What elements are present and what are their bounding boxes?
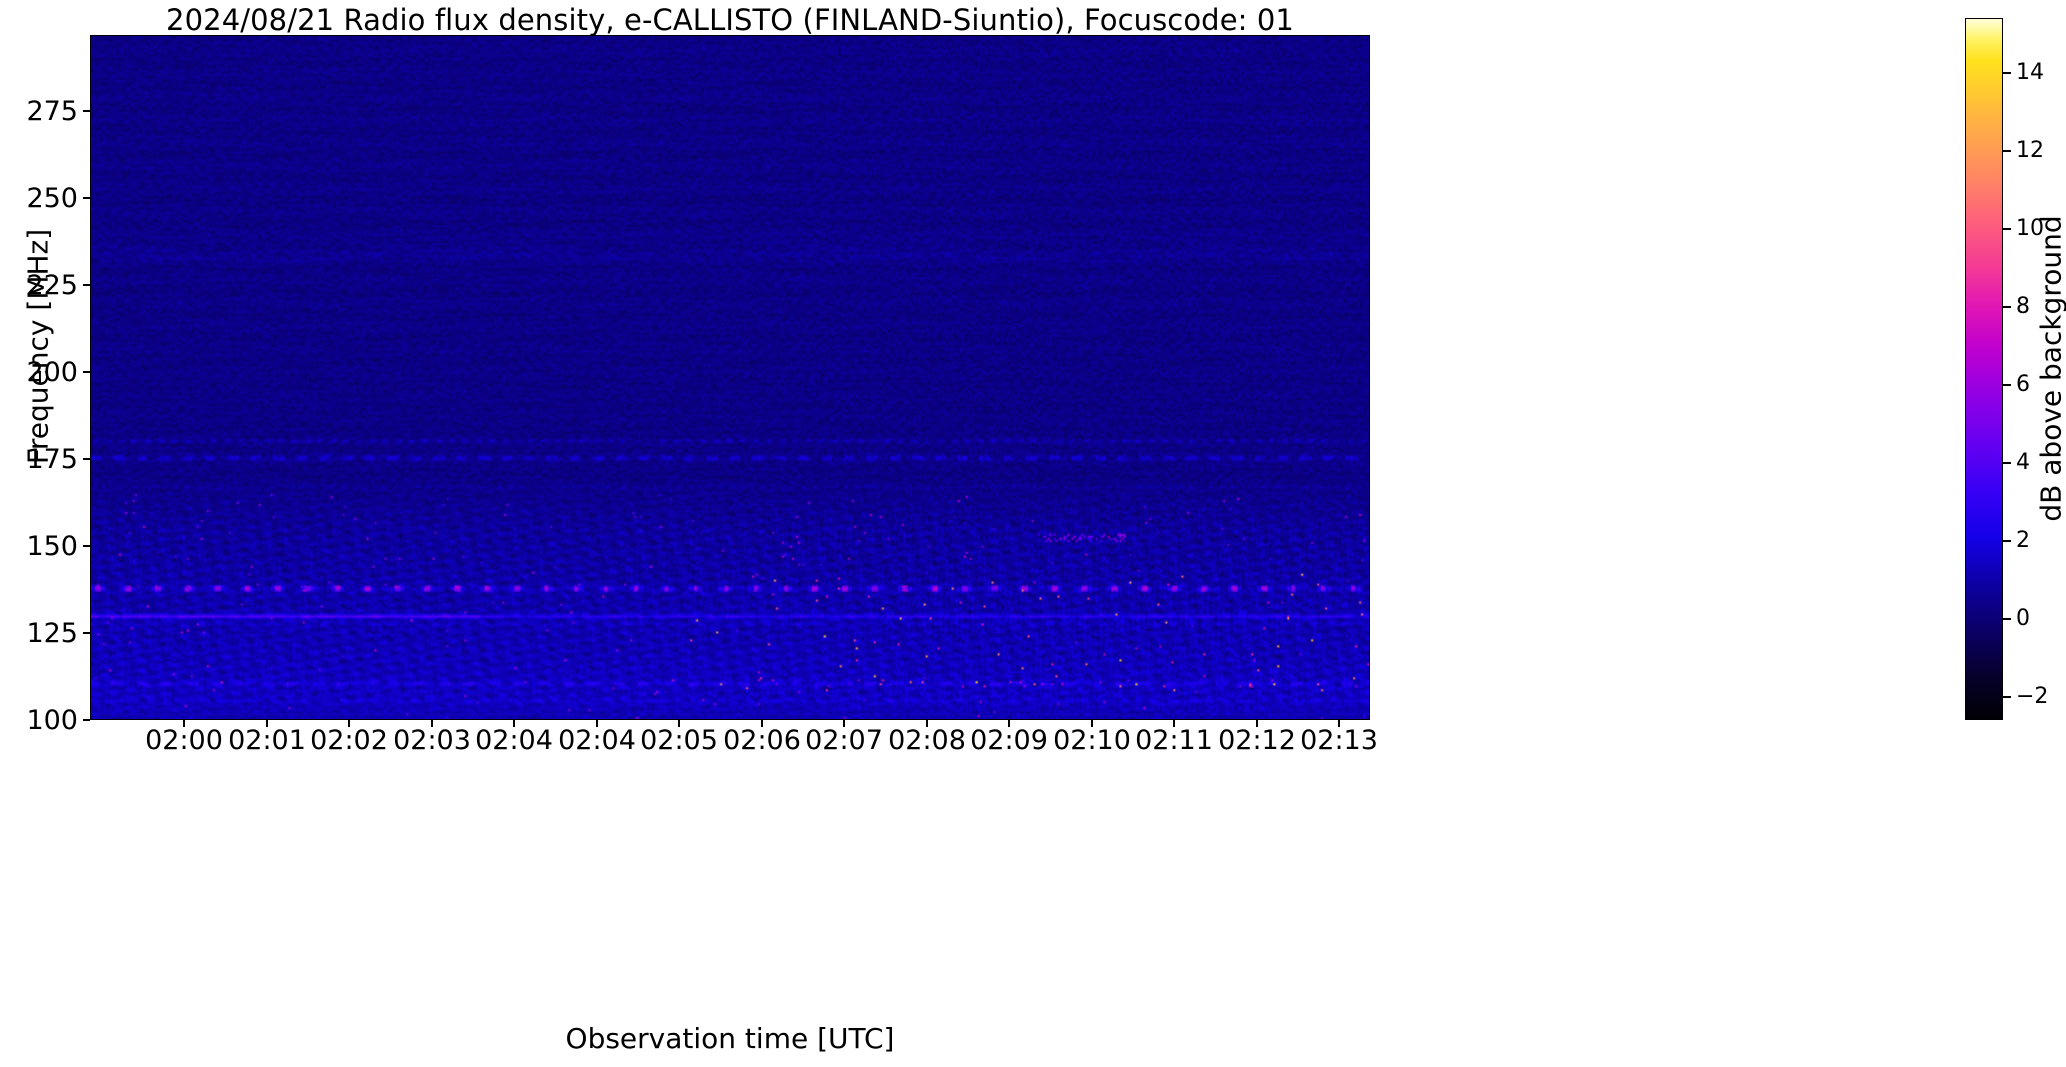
colorbar-tick-mark [2003, 228, 2011, 230]
spectrogram-image [91, 36, 1369, 719]
y-tick-mark [83, 371, 90, 373]
y-tick-mark [83, 284, 90, 286]
colorbar-tick-label: 14 [2016, 62, 2044, 84]
colorbar-tick-label: 8 [2016, 296, 2030, 318]
y-tick-mark [83, 110, 90, 112]
y-tick-mark [83, 719, 90, 721]
x-tick-label: 02:07 [805, 726, 883, 756]
figure-title: 2024/08/21 Radio flux density, e-CALLIST… [90, 2, 1370, 38]
x-tick-label: 02:09 [970, 726, 1048, 756]
spectrogram-axes [90, 35, 1370, 720]
colorbar-gradient [1965, 18, 2003, 720]
x-tick-label: 02:05 [640, 726, 718, 756]
colorbar-tick-mark [2003, 696, 2011, 698]
y-axis-label: Frequency [MHz] [22, 67, 55, 627]
figure-canvas: 2024/08/21 Radio flux density, e-CALLIST… [0, 0, 2066, 1067]
x-tick-label: 02:11 [1135, 726, 1213, 756]
colorbar-label: dB above background [2035, 89, 2066, 649]
colorbar-tick-mark [2003, 150, 2011, 152]
colorbar-tick-mark [2003, 384, 2011, 386]
y-tick-mark [83, 632, 90, 634]
colorbar-tick-mark [2003, 618, 2011, 620]
x-tick-label: 02:00 [145, 726, 223, 756]
x-tick-label: 02:06 [723, 726, 801, 756]
colorbar-tick-label: −2 [2016, 686, 2048, 708]
x-tick-label: 02:01 [228, 726, 306, 756]
x-tick-label: 02:10 [1053, 726, 1131, 756]
y-tick-mark [83, 458, 90, 460]
y-tick-label: 100 [0, 707, 78, 734]
y-tick-mark [83, 197, 90, 199]
colorbar-tick-mark [2003, 72, 2011, 74]
x-tick-label: 02:03 [393, 726, 471, 756]
x-tick-label: 02:12 [1218, 726, 1296, 756]
colorbar-tick-label: 4 [2016, 452, 2030, 474]
x-tick-label: 02:08 [888, 726, 966, 756]
colorbar-tick-mark [2003, 540, 2011, 542]
colorbar-tick-label: 0 [2016, 608, 2030, 630]
x-tick-label: 02:04 [475, 726, 553, 756]
x-tick-label: 02:04 [558, 726, 636, 756]
colorbar-tick-label: 6 [2016, 374, 2030, 396]
x-tick-label: 02:02 [310, 726, 388, 756]
x-axis-label: Observation time [UTC] [90, 1022, 1370, 1055]
x-tick-label: 02:13 [1300, 726, 1378, 756]
spectrogram-image-wrapper [91, 36, 1369, 719]
colorbar-tick-mark [2003, 462, 2011, 464]
y-tick-mark [83, 545, 90, 547]
colorbar-tick-label: 2 [2016, 530, 2030, 552]
colorbar-tick-mark [2003, 306, 2011, 308]
